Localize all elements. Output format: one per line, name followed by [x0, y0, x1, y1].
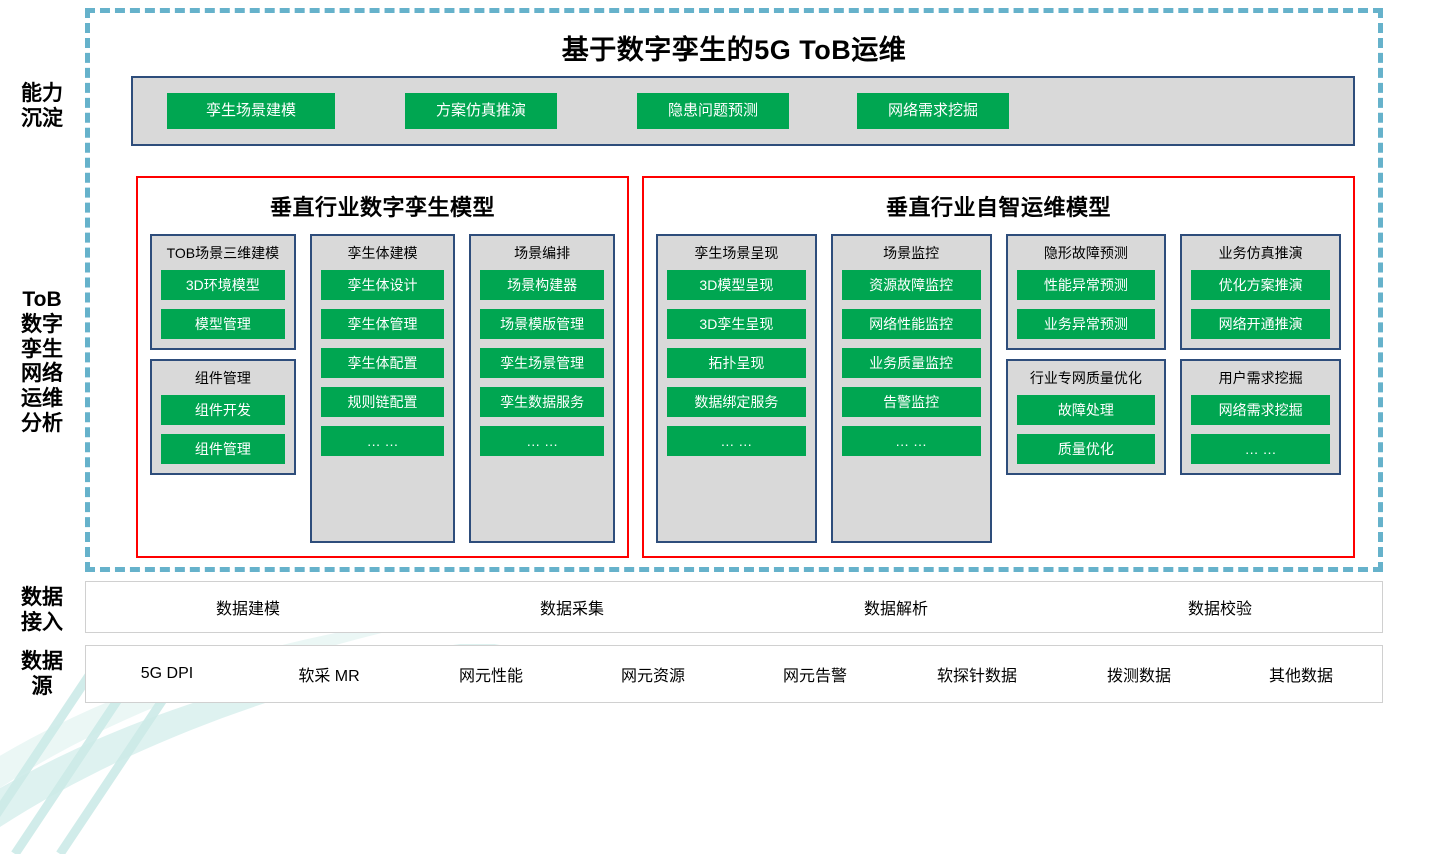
card-item-2[interactable]: 孪生场景管理 — [480, 348, 604, 378]
panel-columns: TOB场景三维建模3D环境模型模型管理组件管理组件开发组件管理孪生体建模孪生体设… — [138, 234, 627, 543]
card-item-0[interactable]: 资源故障监控 — [842, 270, 981, 300]
card-0: 隐形故障预测性能异常预测业务异常预测 — [1006, 234, 1167, 350]
panel-title: 垂直行业数字孪生模型 — [138, 190, 627, 222]
card-title: 场景监控 — [842, 243, 981, 263]
panel-column-0: TOB场景三维建模3D环境模型模型管理组件管理组件开发组件管理 — [150, 234, 296, 543]
data-source-item-3[interactable]: 网元资源 — [572, 662, 734, 686]
card-item-4[interactable]: … … — [321, 426, 445, 456]
panel-column-1: 孪生体建模孪生体设计孪生体管理孪生体配置规则链配置… … — [310, 234, 456, 543]
diagram-canvas: 能力 沉淀 ToB数字孪生网络运维分析 数据 接入 数据 源 基于数字孪生的5G… — [0, 0, 1438, 734]
card-item-1[interactable]: 组件管理 — [161, 434, 285, 464]
row-label-source-line2: 源 — [8, 675, 76, 700]
row-label-data-source: 数据 源 — [8, 650, 76, 700]
card-item-1[interactable]: … … — [1191, 434, 1330, 464]
panel-column-2: 隐形故障预测性能异常预测业务异常预测行业专网质量优化故障处理质量优化 — [1006, 234, 1167, 543]
card-item-4[interactable]: … … — [480, 426, 604, 456]
card-items: 故障处理质量优化 — [1017, 395, 1156, 464]
data-access-item-3[interactable]: 数据校验 — [1058, 595, 1382, 619]
row-label-tob-line-0: ToB — [14, 288, 70, 313]
card-item-0[interactable]: 组件开发 — [161, 395, 285, 425]
card-item-0[interactable]: 故障处理 — [1017, 395, 1156, 425]
card-items: 网络需求挖掘… … — [1191, 395, 1330, 464]
card-item-1[interactable]: 3D孪生呈现 — [667, 309, 806, 339]
capability-chip-1[interactable]: 方案仿真推演 — [405, 93, 557, 129]
card-item-1[interactable]: 孪生体管理 — [321, 309, 445, 339]
card-items: 3D环境模型模型管理 — [161, 270, 285, 339]
card-title: 隐形故障预测 — [1017, 243, 1156, 263]
panel-columns: 孪生场景呈现3D模型呈现3D孪生呈现拓扑呈现数据绑定服务… …场景监控资源故障监… — [644, 234, 1353, 543]
capability-band: 孪生场景建模方案仿真推演隐患问题预测网络需求挖掘 — [131, 76, 1355, 146]
card-title: TOB场景三维建模 — [161, 243, 285, 263]
card-title: 业务仿真推演 — [1191, 243, 1330, 263]
card-items: 组件开发组件管理 — [161, 395, 285, 464]
card-title: 用户需求挖掘 — [1191, 368, 1330, 388]
panel-column-2: 场景编排场景构建器场景模版管理孪生场景管理孪生数据服务… … — [469, 234, 615, 543]
row-label-capability-line1: 能力 — [8, 82, 76, 107]
card-title: 行业专网质量优化 — [1017, 368, 1156, 388]
card-item-0[interactable]: 3D模型呈现 — [667, 270, 806, 300]
card-0: 业务仿真推演优化方案推演网络开通推演 — [1180, 234, 1341, 350]
card-item-1[interactable]: 网络开通推演 — [1191, 309, 1330, 339]
card-item-4[interactable]: … … — [667, 426, 806, 456]
card-0: 孪生体建模孪生体设计孪生体管理孪生体配置规则链配置… … — [310, 234, 456, 543]
row-label-capability-line2: 沉淀 — [8, 107, 76, 132]
row-label-access-line2: 接入 — [8, 611, 76, 636]
data-source-item-1[interactable]: 软采 MR — [248, 662, 410, 686]
data-access-item-2[interactable]: 数据解析 — [734, 595, 1058, 619]
card-item-0[interactable]: 网络需求挖掘 — [1191, 395, 1330, 425]
panel-autonomous-ops-model: 垂直行业自智运维模型 孪生场景呈现3D模型呈现3D孪生呈现拓扑呈现数据绑定服务…… — [642, 176, 1355, 558]
card-item-3[interactable]: 告警监控 — [842, 387, 981, 417]
card-title: 组件管理 — [161, 368, 285, 388]
capability-chip-2[interactable]: 隐患问题预测 — [637, 93, 789, 129]
row-label-tob-line-1: 数字 — [14, 313, 70, 338]
data-source-item-4[interactable]: 网元告警 — [734, 662, 896, 686]
panel-digital-twin-model: 垂直行业数字孪生模型 TOB场景三维建模3D环境模型模型管理组件管理组件开发组件… — [136, 176, 629, 558]
card-item-4[interactable]: … … — [842, 426, 981, 456]
card-items: 场景构建器场景模版管理孪生场景管理孪生数据服务… … — [480, 270, 604, 456]
row-label-tob: ToB数字孪生网络运维分析 — [14, 288, 70, 437]
row-label-tob-line-3: 网络 — [14, 362, 70, 387]
panel-column-0: 孪生场景呈现3D模型呈现3D孪生呈现拓扑呈现数据绑定服务… … — [656, 234, 817, 543]
panel-column-1: 场景监控资源故障监控网络性能监控业务质量监控告警监控… … — [831, 234, 992, 543]
card-item-3[interactable]: 数据绑定服务 — [667, 387, 806, 417]
card-items: 资源故障监控网络性能监控业务质量监控告警监控… … — [842, 270, 981, 456]
row-label-data-access: 数据 接入 — [8, 586, 76, 636]
card-1: 用户需求挖掘网络需求挖掘… … — [1180, 359, 1341, 475]
card-item-1[interactable]: 模型管理 — [161, 309, 285, 339]
card-item-1[interactable]: 质量优化 — [1017, 434, 1156, 464]
card-1: 行业专网质量优化故障处理质量优化 — [1006, 359, 1167, 475]
panel-title: 垂直行业自智运维模型 — [644, 190, 1353, 222]
card-1: 组件管理组件开发组件管理 — [150, 359, 296, 475]
data-source-item-6[interactable]: 拨测数据 — [1058, 662, 1220, 686]
row-label-tob-line-4: 运维 — [14, 387, 70, 412]
capability-chip-3[interactable]: 网络需求挖掘 — [857, 93, 1009, 129]
data-source-item-5[interactable]: 软探针数据 — [896, 662, 1058, 686]
card-items: 性能异常预测业务异常预测 — [1017, 270, 1156, 339]
card-0: 场景监控资源故障监控网络性能监控业务质量监控告警监控… … — [831, 234, 992, 543]
data-access-item-0[interactable]: 数据建模 — [86, 595, 410, 619]
card-item-2[interactable]: 拓扑呈现 — [667, 348, 806, 378]
card-0: TOB场景三维建模3D环境模型模型管理 — [150, 234, 296, 350]
card-items: 优化方案推演网络开通推演 — [1191, 270, 1330, 339]
card-0: 孪生场景呈现3D模型呈现3D孪生呈现拓扑呈现数据绑定服务… … — [656, 234, 817, 543]
card-item-2[interactable]: 孪生体配置 — [321, 348, 445, 378]
card-item-0[interactable]: 3D环境模型 — [161, 270, 285, 300]
data-source-row: 5G DPI软采 MR网元性能网元资源网元告警软探针数据拨测数据其他数据 — [85, 645, 1383, 703]
card-item-1[interactable]: 网络性能监控 — [842, 309, 981, 339]
panel-column-3: 业务仿真推演优化方案推演网络开通推演用户需求挖掘网络需求挖掘… … — [1180, 234, 1341, 543]
card-item-0[interactable]: 优化方案推演 — [1191, 270, 1330, 300]
row-label-capability: 能力 沉淀 — [8, 82, 76, 132]
row-label-access-line1: 数据 — [8, 586, 76, 611]
card-title: 孪生场景呈现 — [667, 243, 806, 263]
row-label-tob-line-2: 孪生 — [14, 338, 70, 363]
data-access-item-1[interactable]: 数据采集 — [410, 595, 734, 619]
card-item-0[interactable]: 性能异常预测 — [1017, 270, 1156, 300]
row-label-tob-line-5: 分析 — [14, 412, 70, 437]
card-item-3[interactable]: 规则链配置 — [321, 387, 445, 417]
card-title: 场景编排 — [480, 243, 604, 263]
page-title: 基于数字孪生的5G ToB运维 — [85, 28, 1383, 67]
data-source-item-2[interactable]: 网元性能 — [410, 662, 572, 686]
capability-chip-0[interactable]: 孪生场景建模 — [167, 93, 335, 129]
data-source-item-0[interactable]: 5G DPI — [86, 665, 248, 683]
card-item-1[interactable]: 场景模版管理 — [480, 309, 604, 339]
card-item-0[interactable]: 孪生体设计 — [321, 270, 445, 300]
card-0: 场景编排场景构建器场景模版管理孪生场景管理孪生数据服务… … — [469, 234, 615, 543]
card-items: 孪生体设计孪生体管理孪生体配置规则链配置… … — [321, 270, 445, 456]
card-item-0[interactable]: 场景构建器 — [480, 270, 604, 300]
card-item-3[interactable]: 孪生数据服务 — [480, 387, 604, 417]
card-title: 孪生体建模 — [321, 243, 445, 263]
row-label-source-line1: 数据 — [8, 650, 76, 675]
data-source-item-7[interactable]: 其他数据 — [1220, 662, 1382, 686]
card-item-2[interactable]: 业务质量监控 — [842, 348, 981, 378]
card-items: 3D模型呈现3D孪生呈现拓扑呈现数据绑定服务… … — [667, 270, 806, 456]
card-item-1[interactable]: 业务异常预测 — [1017, 309, 1156, 339]
data-access-row: 数据建模数据采集数据解析数据校验 — [85, 581, 1383, 633]
